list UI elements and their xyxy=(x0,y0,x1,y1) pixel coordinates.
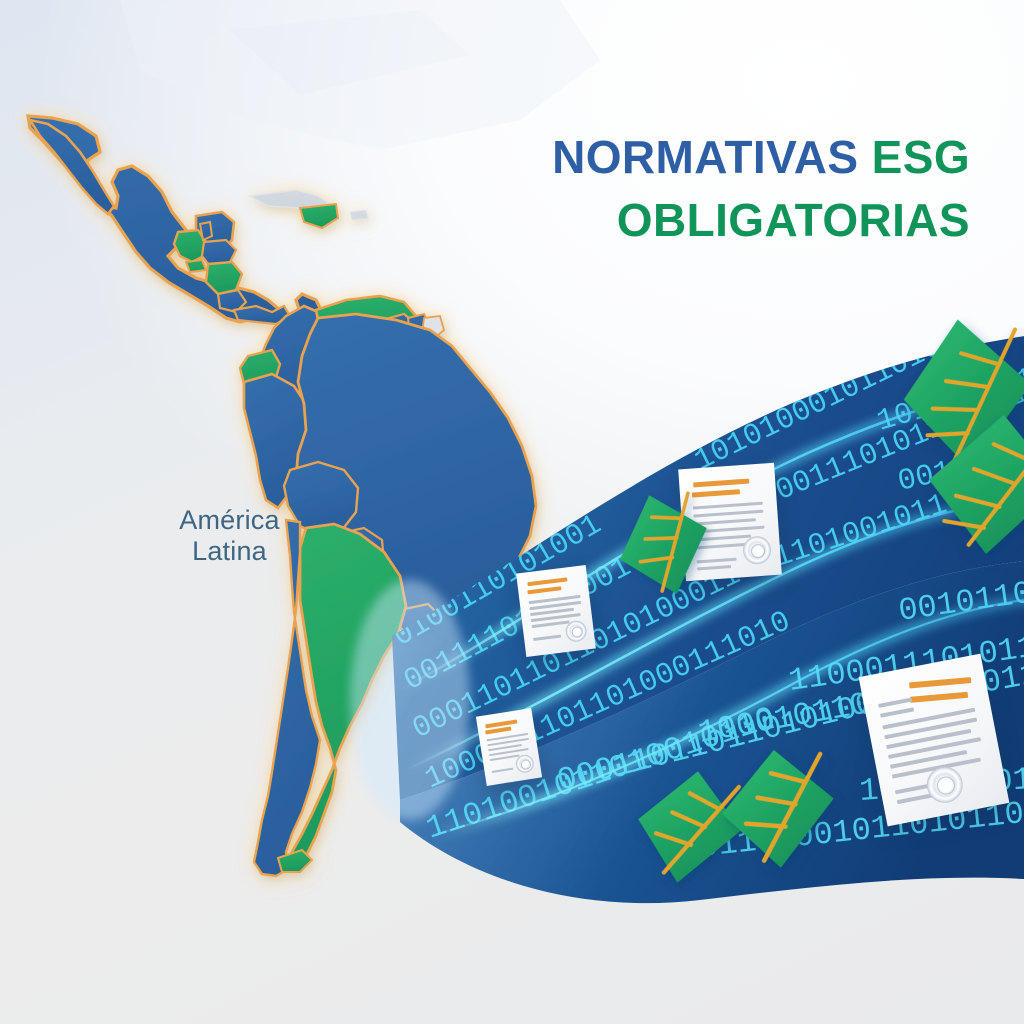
leaf-icon xyxy=(716,744,840,873)
title-word-esg: ESG xyxy=(872,131,970,183)
leaf-icon xyxy=(630,764,748,890)
leaf-icon xyxy=(604,482,723,608)
title-line-1: NORMATIVAS ESG xyxy=(470,126,970,189)
title-line-2: OBLIGATORIAS xyxy=(470,189,970,252)
poster-canvas: América Latina xyxy=(0,0,1024,1024)
title-word-normativas: NORMATIVAS xyxy=(552,131,872,183)
page-title: NORMATIVAS ESG OBLIGATORIAS xyxy=(470,126,970,251)
